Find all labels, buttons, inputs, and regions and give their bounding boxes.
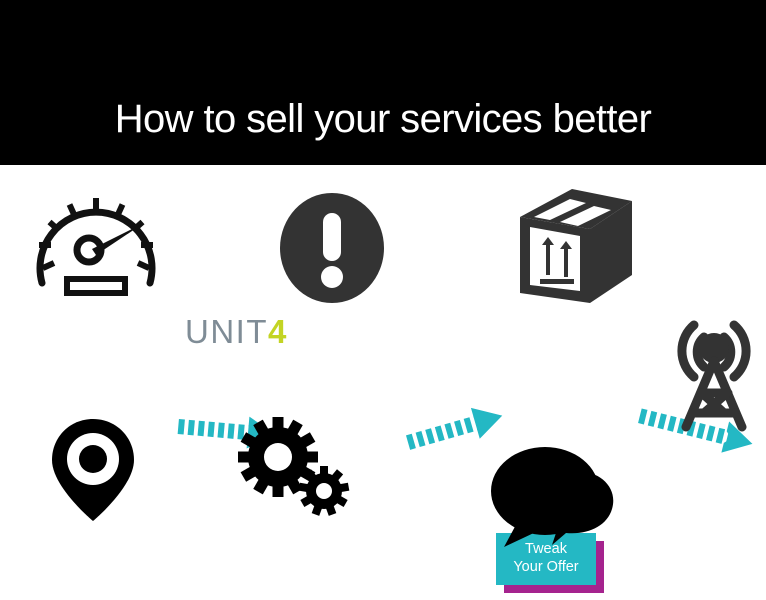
package-box-icon [512, 187, 638, 305]
flow-node-alert[interactable] [280, 193, 384, 308]
broadcast-tower-icon [668, 315, 760, 433]
flow-node-package[interactable] [512, 187, 638, 310]
brand-logo: UNIT4 [185, 315, 288, 348]
header-band: How to sell your services better [0, 0, 766, 165]
flow-node-conversation[interactable] [488, 443, 620, 554]
speech-bubbles-icon [488, 443, 620, 549]
diagram-area: Tweak Your Offer [0, 165, 766, 600]
flow-node-speedometer[interactable] [26, 187, 166, 302]
flow-node-broadcast[interactable] [668, 315, 760, 438]
flow-node-location[interactable] [46, 415, 140, 530]
gears-icon [236, 415, 354, 519]
flow-node-gears[interactable] [236, 415, 354, 524]
exclamation-circle-icon [280, 193, 384, 303]
slide-canvas: How to sell your services better [0, 0, 766, 600]
brand-logo-accent: 4 [268, 313, 288, 350]
map-pin-icon [46, 415, 140, 525]
callout-line-2: Your Offer [496, 558, 596, 576]
page-title: How to sell your services better [0, 99, 766, 139]
brand-logo-text: UNIT [185, 313, 268, 350]
speedometer-icon [26, 187, 166, 297]
